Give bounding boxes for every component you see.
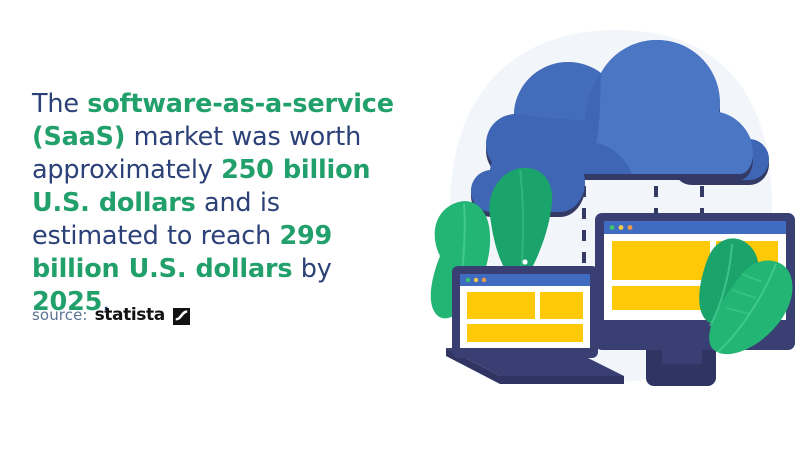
dot-orange xyxy=(482,278,486,282)
laptop-camera-icon xyxy=(522,259,527,264)
dot-yellow xyxy=(619,225,624,230)
text-panel: The software-as-a-service (SaaS) market … xyxy=(32,88,407,319)
dot-orange xyxy=(628,225,633,230)
laptop-titlebar xyxy=(460,274,590,286)
laptop xyxy=(446,259,624,384)
content-block-top-left xyxy=(612,241,710,280)
content-block-bottom xyxy=(467,324,583,342)
dot-yellow xyxy=(474,278,478,282)
dot-green xyxy=(610,225,615,230)
saas-cloud-devices-illustration xyxy=(420,8,800,450)
headline-segment-6: by xyxy=(292,254,331,284)
statista-logo-icon xyxy=(173,308,190,325)
content-block-top-left xyxy=(467,292,535,319)
source-brand-name: statista xyxy=(95,305,165,325)
headline-segment-0: The xyxy=(32,89,87,119)
source-label: source: xyxy=(32,306,88,324)
content-block-top-right xyxy=(540,292,583,319)
source-attribution: source: statista xyxy=(32,305,190,325)
headline-text: The software-as-a-service (SaaS) market … xyxy=(32,88,407,319)
dot-green xyxy=(466,278,470,282)
infographic-canvas: The software-as-a-service (SaaS) market … xyxy=(0,0,800,450)
